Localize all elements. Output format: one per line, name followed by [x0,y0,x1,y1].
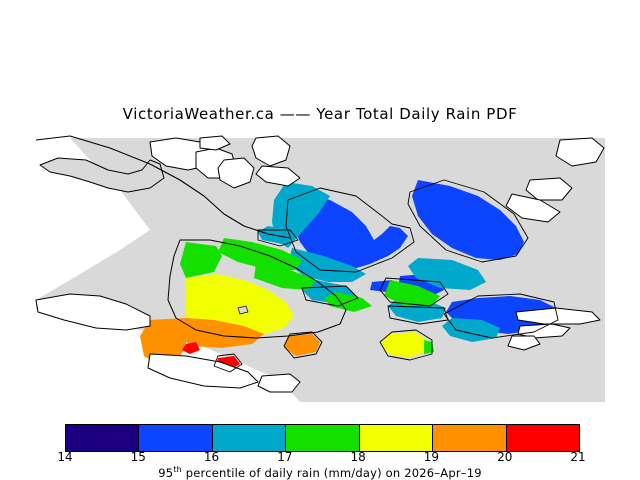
page-title: VictoriaWeather.ca —— Year Total Daily R… [0,105,640,123]
colorbar-legend: 1415161718192021 95th percentile of dail… [0,420,640,480]
colorbar-segment-16-17 [213,425,286,451]
colorbar-tick-20: 20 [497,450,512,464]
colorbar-tick-18: 18 [351,450,366,464]
colorbar-segment-18-19 [360,425,433,451]
colorbar-tick-21: 21 [570,450,585,464]
map-canvas [0,130,640,415]
colorbar-tick-17: 17 [277,450,292,464]
colorbar-tick-labels: 1415161718192021 [0,450,640,466]
caption-prefix: 95 [158,466,173,480]
colorbar-segment-17-18 [286,425,359,451]
colorbar-tick-16: 16 [204,450,219,464]
colorbar-segment-20-21 [507,425,579,451]
colorbar-segment-15-16 [139,425,212,451]
coast-south-channel [258,374,300,392]
colorbar-segment-19-20 [433,425,506,451]
colorbar-tick-15: 15 [131,450,146,464]
caption-rest: percentile of daily rain (mm/day) on 202… [182,466,482,480]
colorbar-strip [65,424,580,452]
weather-map-page: VictoriaWeather.ca —— Year Total Daily R… [0,0,640,480]
colorbar-tick-14: 14 [57,450,72,464]
caption-superscript: th [173,465,182,474]
map-svg [0,130,640,415]
colorbar-caption: 95th percentile of daily rain (mm/day) o… [0,465,640,480]
colorbar-tick-19: 19 [424,450,439,464]
colorbar-segment-14-15 [66,425,139,451]
